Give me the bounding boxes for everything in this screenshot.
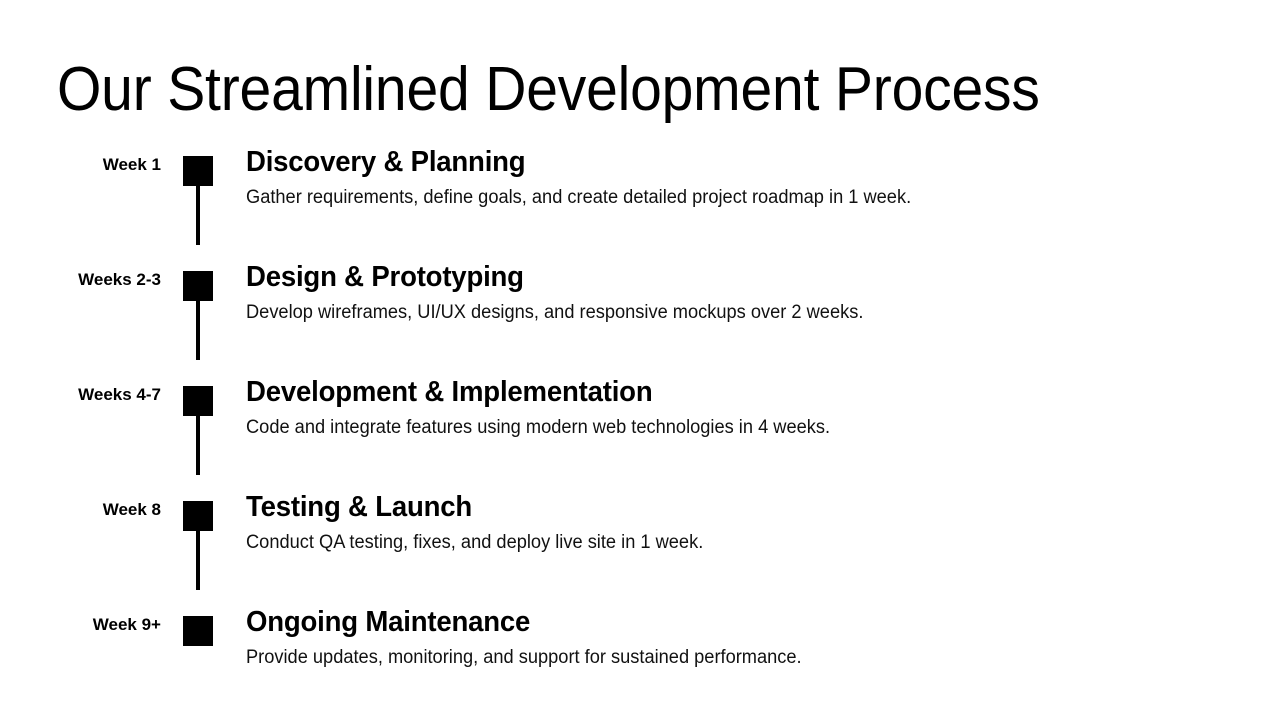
square-marker-icon <box>183 616 213 646</box>
square-marker-icon <box>183 501 213 531</box>
connector-line <box>196 186 200 245</box>
timeline-marker-column <box>163 143 225 258</box>
timeline-week-label: Week 1 <box>57 143 163 175</box>
timeline-item: Week 8 Testing & Launch Conduct QA testi… <box>57 488 1237 603</box>
timeline-item-heading: Ongoing Maintenance <box>246 603 1187 641</box>
square-marker-icon <box>183 386 213 416</box>
timeline-item: Week 1 Discovery & Planning Gather requi… <box>57 143 1237 258</box>
timeline-content: Testing & Launch Conduct QA testing, fix… <box>225 488 1237 556</box>
timeline-item-heading: Development & Implementation <box>246 373 1187 411</box>
timeline-item-heading: Testing & Launch <box>246 488 1187 526</box>
timeline-item-heading: Discovery & Planning <box>246 143 1187 181</box>
timeline-marker-column <box>163 258 225 373</box>
timeline-item: Week 9+ Ongoing Maintenance Provide upda… <box>57 603 1237 698</box>
timeline-week-label: Week 8 <box>57 488 163 520</box>
timeline-content: Development & Implementation Code and in… <box>225 373 1237 441</box>
timeline-week-label: Week 9+ <box>57 603 163 635</box>
timeline-week-label: Weeks 4-7 <box>57 373 163 405</box>
page-title: Our Streamlined Development Process <box>57 52 1040 128</box>
timeline-item-description: Provide updates, monitoring, and support… <box>246 645 1197 671</box>
square-marker-icon <box>183 271 213 301</box>
timeline-item: Weeks 2-3 Design & Prototyping Develop w… <box>57 258 1237 373</box>
timeline-list: Week 1 Discovery & Planning Gather requi… <box>57 143 1237 698</box>
timeline-marker-column <box>163 488 225 603</box>
timeline-item-description: Develop wireframes, UI/UX designs, and r… <box>246 300 1197 326</box>
timeline-content: Ongoing Maintenance Provide updates, mon… <box>225 603 1237 671</box>
connector-line <box>196 416 200 475</box>
slide-canvas: Our Streamlined Development Process Week… <box>0 0 1280 720</box>
connector-line <box>196 301 200 360</box>
timeline-item-description: Gather requirements, define goals, and c… <box>246 185 1197 211</box>
timeline-item: Weeks 4-7 Development & Implementation C… <box>57 373 1237 488</box>
timeline-marker-column <box>163 603 225 698</box>
square-marker-icon <box>183 156 213 186</box>
timeline-content: Design & Prototyping Develop wireframes,… <box>225 258 1237 326</box>
timeline-item-heading: Design & Prototyping <box>246 258 1187 296</box>
timeline-marker-column <box>163 373 225 488</box>
timeline-week-label: Weeks 2-3 <box>57 258 163 290</box>
timeline-content: Discovery & Planning Gather requirements… <box>225 143 1237 211</box>
timeline-item-description: Conduct QA testing, fixes, and deploy li… <box>246 530 1197 556</box>
connector-line <box>196 531 200 590</box>
timeline-item-description: Code and integrate features using modern… <box>246 415 1197 441</box>
